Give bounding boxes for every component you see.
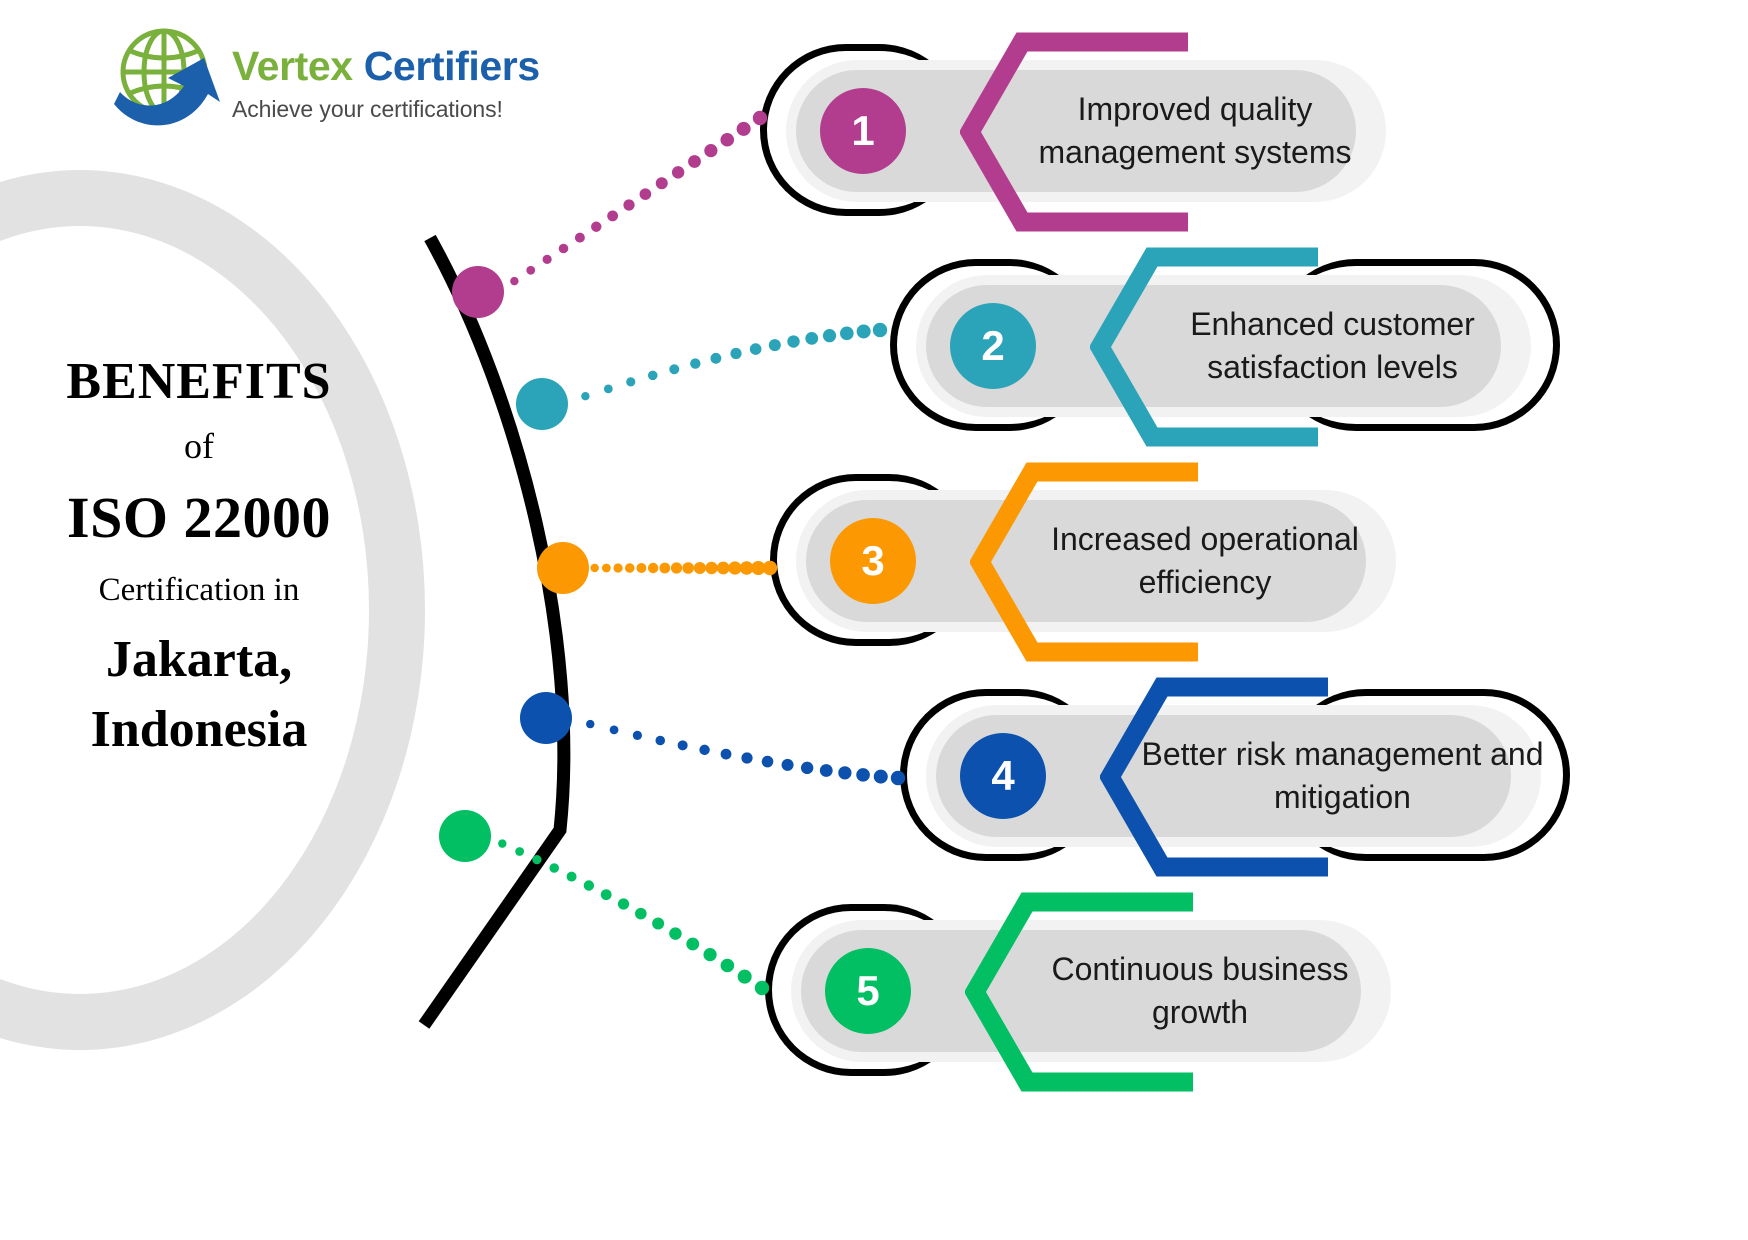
connector-dot (618, 898, 629, 909)
connector-dot (874, 770, 888, 784)
benefit-number-badge[interactable]: 4 (960, 733, 1046, 819)
connector-dot (626, 377, 635, 386)
connector-dot (705, 562, 717, 574)
connector-dot (633, 731, 642, 740)
connector-dot (655, 736, 665, 746)
arc-node-dot[interactable] (452, 266, 504, 318)
connector-dot (787, 335, 799, 347)
connector-dot (873, 323, 887, 337)
brand-name: Vertex Certifiers (232, 46, 540, 87)
connector-dot (751, 561, 765, 575)
connector-dot (805, 332, 818, 345)
connector-dot (481, 832, 489, 840)
connector-dot (613, 563, 622, 572)
infographic-canvas: Vertex Certifiers Achieve your certifica… (0, 0, 1748, 1240)
connector-dot (686, 938, 699, 951)
connector-dot (688, 155, 701, 168)
connector-dot (640, 188, 652, 200)
title-line-city: Jakarta, (14, 625, 384, 695)
title-line-standard: ISO 22000 (14, 480, 384, 555)
connector-dot (838, 766, 851, 779)
connector-dot (672, 166, 684, 178)
benefit-label: Better risk management and mitigation (1140, 683, 1545, 868)
connector-dot (721, 749, 732, 760)
connector-dot (694, 562, 706, 574)
benefit-number-badge[interactable]: 5 (825, 948, 911, 1034)
page-title: BENEFITS of ISO 22000 Certification in J… (14, 352, 384, 765)
connector-dot (721, 959, 735, 973)
connector-dot (648, 563, 658, 573)
benefit-number-badge[interactable]: 2 (950, 303, 1036, 389)
connector-dot (659, 563, 670, 574)
connector-dot (738, 970, 752, 984)
connector-dot (567, 872, 577, 882)
connector-dot (730, 348, 741, 359)
connector-dot (610, 725, 619, 734)
connector-dot (549, 863, 559, 873)
connector-dot (740, 561, 754, 575)
connector-dot (857, 324, 871, 338)
connector-dot (704, 144, 717, 157)
connector-dot (526, 266, 535, 275)
benefit-row[interactable]: 2Enhanced customer satisfaction levels (890, 253, 1748, 438)
connector-dot (801, 762, 813, 774)
globe-arrow-icon (108, 22, 226, 138)
connector-dot (669, 364, 679, 374)
connector-dot (607, 210, 618, 221)
connector-dot (671, 562, 682, 573)
connector-dot (820, 764, 833, 777)
benefit-number-badge[interactable]: 1 (820, 88, 906, 174)
connector-dot (636, 563, 646, 573)
connector-dot (558, 400, 566, 408)
connector-dot (586, 720, 594, 728)
connector-dot (728, 561, 741, 574)
connector-dot (625, 563, 635, 573)
connector-dot (856, 768, 870, 782)
connector-dot (584, 880, 594, 890)
connector-dot (682, 562, 694, 574)
title-line-benefits: BENEFITS (14, 352, 384, 412)
connector-dot (591, 222, 601, 232)
connector-dot (604, 384, 613, 393)
connector-dot (750, 343, 762, 355)
connector-dot (669, 927, 681, 939)
connector-dot (581, 392, 589, 400)
connector-dot (678, 740, 688, 750)
connector-dot (510, 277, 518, 285)
benefit-row[interactable]: 5Continuous business growth (765, 898, 1665, 1083)
benefit-label: Improved quality management systems (1000, 38, 1390, 223)
brand-tagline: Achieve your certifications! (232, 96, 540, 123)
connector-dot (498, 839, 506, 847)
arc-node-dot[interactable] (520, 692, 572, 744)
connector-dot (652, 918, 664, 930)
connector-dot (602, 564, 611, 573)
connector-dot (562, 714, 570, 722)
connector-dot (532, 855, 541, 864)
connector-dot (559, 244, 569, 254)
benefit-label: Continuous business growth (1005, 898, 1395, 1083)
brand-logo: Vertex Certifiers Achieve your certifica… (108, 22, 578, 142)
connector-dot (543, 255, 552, 264)
connector-dot (720, 133, 734, 147)
connector-dot (769, 339, 781, 351)
benefit-row[interactable]: 4Better risk management and mitigation (900, 683, 1748, 868)
arc-node-dot[interactable] (537, 542, 589, 594)
benefit-number-badge[interactable]: 3 (830, 518, 916, 604)
connector-dot (710, 353, 721, 364)
connector-dot (601, 889, 612, 900)
connector-dot (648, 371, 658, 381)
benefit-row[interactable]: 1Improved quality management systems (760, 38, 1660, 223)
connector-dot (741, 752, 752, 763)
connector-dot (703, 948, 716, 961)
brand-name-part1: Vertex (232, 43, 353, 89)
connector-dot (782, 759, 794, 771)
connector-dot (579, 564, 587, 572)
connector-dot (590, 564, 598, 572)
connector-dot (494, 288, 502, 296)
benefit-row[interactable]: 3Increased operational efficiency (770, 468, 1670, 653)
arc-node-dot[interactable] (439, 810, 491, 862)
arc-node-dot[interactable] (516, 378, 568, 430)
connector-dot (823, 329, 836, 342)
connector-dot (762, 756, 774, 768)
benefit-label: Increased operational efficiency (1010, 468, 1400, 653)
title-line-of: of (14, 412, 384, 480)
benefit-label: Enhanced customer satisfaction levels (1130, 253, 1535, 438)
title-line-country: Indonesia (14, 695, 384, 765)
brand-name-part2: Certifiers (364, 43, 540, 89)
title-line-certification: Certification in (14, 556, 384, 625)
connector-dot (690, 358, 700, 368)
connector-dot (699, 745, 709, 755)
connector-dot (840, 327, 854, 341)
connector-dot (737, 122, 751, 136)
connector-dot (623, 199, 634, 210)
connector-dot (575, 233, 585, 243)
connector-dot (515, 847, 524, 856)
connector-dot (656, 177, 668, 189)
connector-dot (635, 908, 647, 920)
main-arc (424, 238, 564, 1025)
connector-dot (717, 562, 730, 575)
